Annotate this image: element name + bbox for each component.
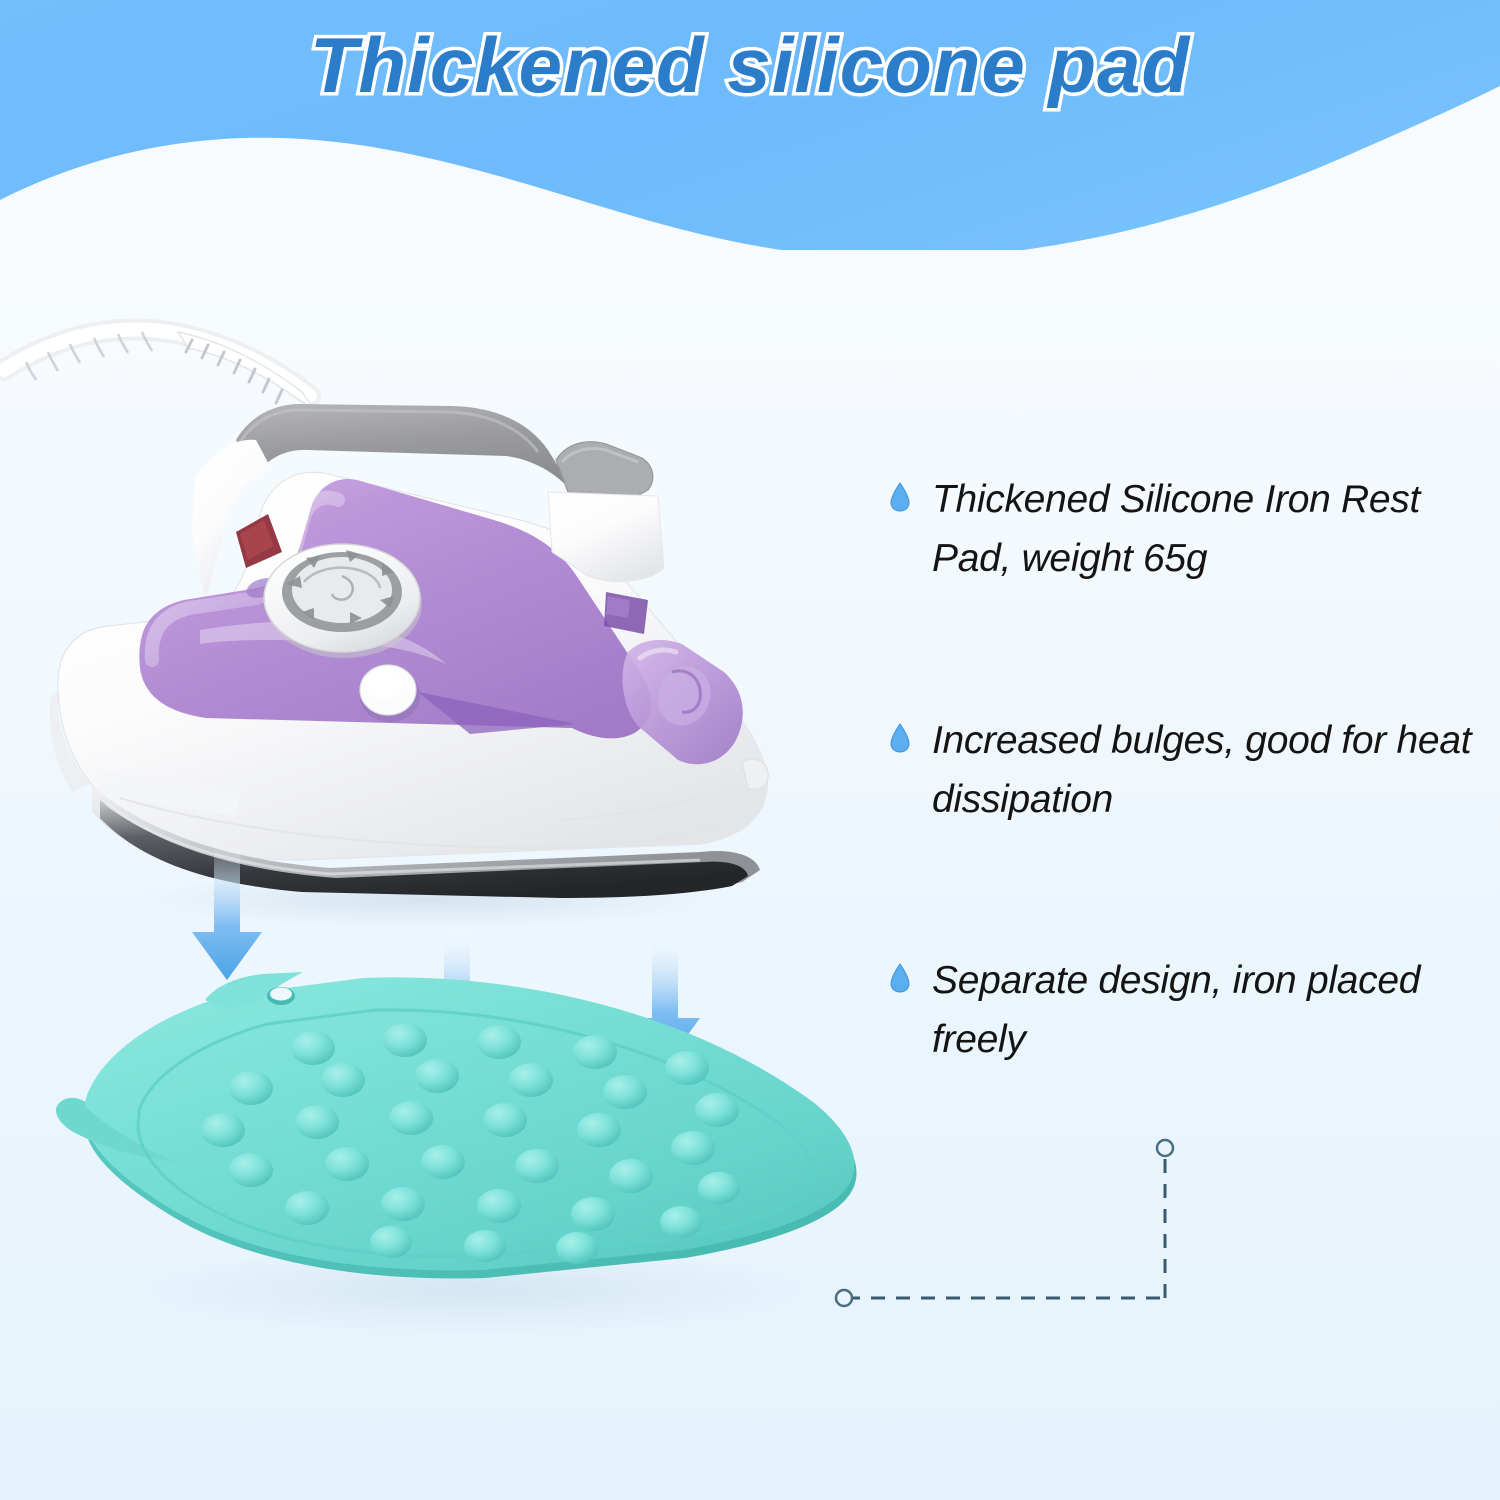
- dimension-endpoint-left: [836, 1290, 852, 1306]
- dimension-marker: [820, 1120, 1240, 1320]
- feature-text-2: Increased bulges, good for heat dissipat…: [932, 711, 1477, 830]
- feature-item-3: Separate design, iron placed freely: [890, 951, 1490, 1070]
- water-drop-icon: [890, 723, 910, 753]
- product-infographic: Thickened silicone pad: [0, 0, 1500, 1500]
- feature-item-2: Increased bulges, good for heat dissipat…: [890, 711, 1490, 830]
- dimension-lines: [846, 1152, 1165, 1298]
- temperature-dial[interactable]: [264, 544, 422, 658]
- water-drop-icon: [890, 963, 910, 993]
- page-title: Thickened silicone pad: [0, 20, 1500, 111]
- dimension-endpoint-top: [1157, 1140, 1173, 1156]
- header-banner: Thickened silicone pad: [0, 0, 1500, 250]
- feature-item-1: Thickened Silicone Iron Rest Pad, weight…: [890, 470, 1490, 589]
- dimension-graphic: [820, 1120, 1240, 1320]
- pad-graphic: [55, 960, 895, 1340]
- feature-text-1: Thickened Silicone Iron Rest Pad, weight…: [932, 470, 1477, 589]
- feature-list: Thickened Silicone Iron Rest Pad, weight…: [890, 470, 1490, 1070]
- feature-text-3: Separate design, iron placed freely: [932, 951, 1477, 1070]
- power-cord: [4, 330, 316, 413]
- silicone-pad-illustration: [55, 960, 895, 1340]
- water-drop-icon: [890, 482, 910, 512]
- pad-hanging-hole: [267, 987, 295, 1005]
